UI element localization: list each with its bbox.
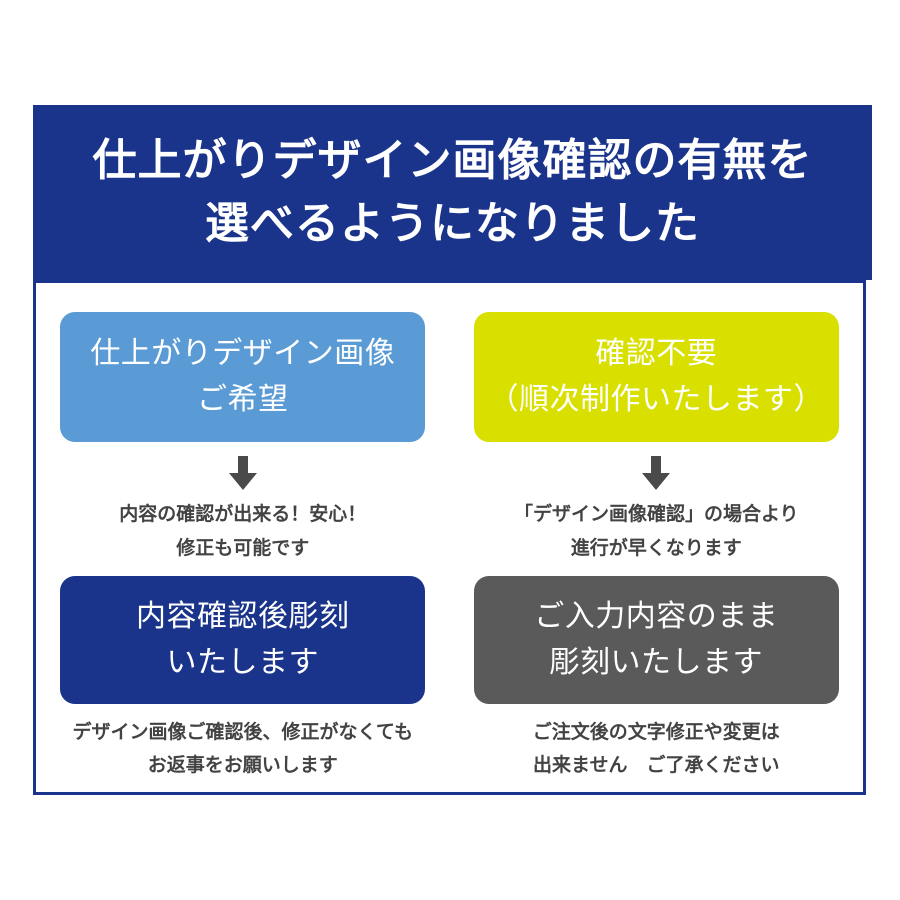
result-box-line-1: 内容確認後彫刻 bbox=[136, 594, 350, 640]
benefit-line-1: 内容の確認が出来る！安心！ bbox=[119, 498, 366, 532]
option-box-line-1: 確認不要 bbox=[595, 331, 717, 377]
benefit-text-right: 「デザイン画像確認」の場合より 進行が早くなります bbox=[514, 498, 799, 566]
note-text-right: ご注文後の文字修正や変更は 出来ません ご了承ください bbox=[533, 716, 780, 784]
header-title-line-1: 仕上がりデザイン画像確認の有無を bbox=[93, 130, 813, 192]
benefit-line-2: 進行が早くなります bbox=[514, 532, 799, 566]
option-box-line-2: （順次制作いたします） bbox=[489, 377, 825, 423]
header-title-line-2: 選べるようになりました bbox=[205, 193, 700, 255]
option-box-line-2: ご希望 bbox=[197, 377, 289, 423]
note-line-1: ご注文後の文字修正や変更は bbox=[533, 716, 780, 750]
result-box-line-1: ご入力内容のまま bbox=[534, 594, 778, 640]
content-panel: 仕上がりデザイン画像 ご希望 内容の確認が出来る！安心！ 修正も可能です 内容確… bbox=[33, 280, 866, 795]
note-line-1: デザイン画像ご確認後、修正がなくても bbox=[73, 716, 413, 750]
note-line-2: お返事をお願いします bbox=[73, 749, 413, 783]
option-box-line-1: 仕上がりデザイン画像 bbox=[90, 331, 395, 377]
benefit-line-1: 「デザイン画像確認」の場合より bbox=[514, 498, 799, 532]
option-box-no-check-needed[interactable]: 確認不要 （順次制作いたします） bbox=[474, 312, 839, 442]
note-line-2: 出来ません ご了承ください bbox=[533, 749, 780, 783]
option-box-design-check-requested[interactable]: 仕上がりデザイン画像 ご希望 bbox=[60, 312, 425, 442]
infographic-page: 仕上がりデザイン画像確認の有無を 選べるようになりました 仕上がりデザイン画像 … bbox=[0, 0, 900, 900]
down-arrow-icon bbox=[228, 456, 258, 490]
result-box-engrave-as-entered[interactable]: ご入力内容のまま 彫刻いたします bbox=[474, 576, 839, 704]
comparison-columns: 仕上がりデザイン画像 ご希望 内容の確認が出来る！安心！ 修正も可能です 内容確… bbox=[36, 283, 863, 792]
note-text-left: デザイン画像ご確認後、修正がなくても お返事をお願いします bbox=[73, 716, 413, 784]
header-banner: 仕上がりデザイン画像確認の有無を 選べるようになりました bbox=[33, 105, 872, 280]
benefit-line-2: 修正も可能です bbox=[119, 532, 366, 566]
benefit-text-left: 内容の確認が出来る！安心！ 修正も可能です bbox=[119, 498, 366, 566]
result-box-engrave-after-check[interactable]: 内容確認後彫刻 いたします bbox=[60, 576, 425, 704]
column-with-design-check: 仕上がりデザイン画像 ご希望 内容の確認が出来る！安心！ 修正も可能です 内容確… bbox=[36, 283, 450, 792]
result-box-line-2: 彫刻いたします bbox=[550, 640, 764, 686]
result-box-line-2: いたします bbox=[167, 640, 320, 686]
column-without-design-check: 確認不要 （順次制作いたします） 「デザイン画像確認」の場合より 進行が早くなり… bbox=[450, 283, 864, 792]
down-arrow-icon bbox=[641, 456, 671, 490]
